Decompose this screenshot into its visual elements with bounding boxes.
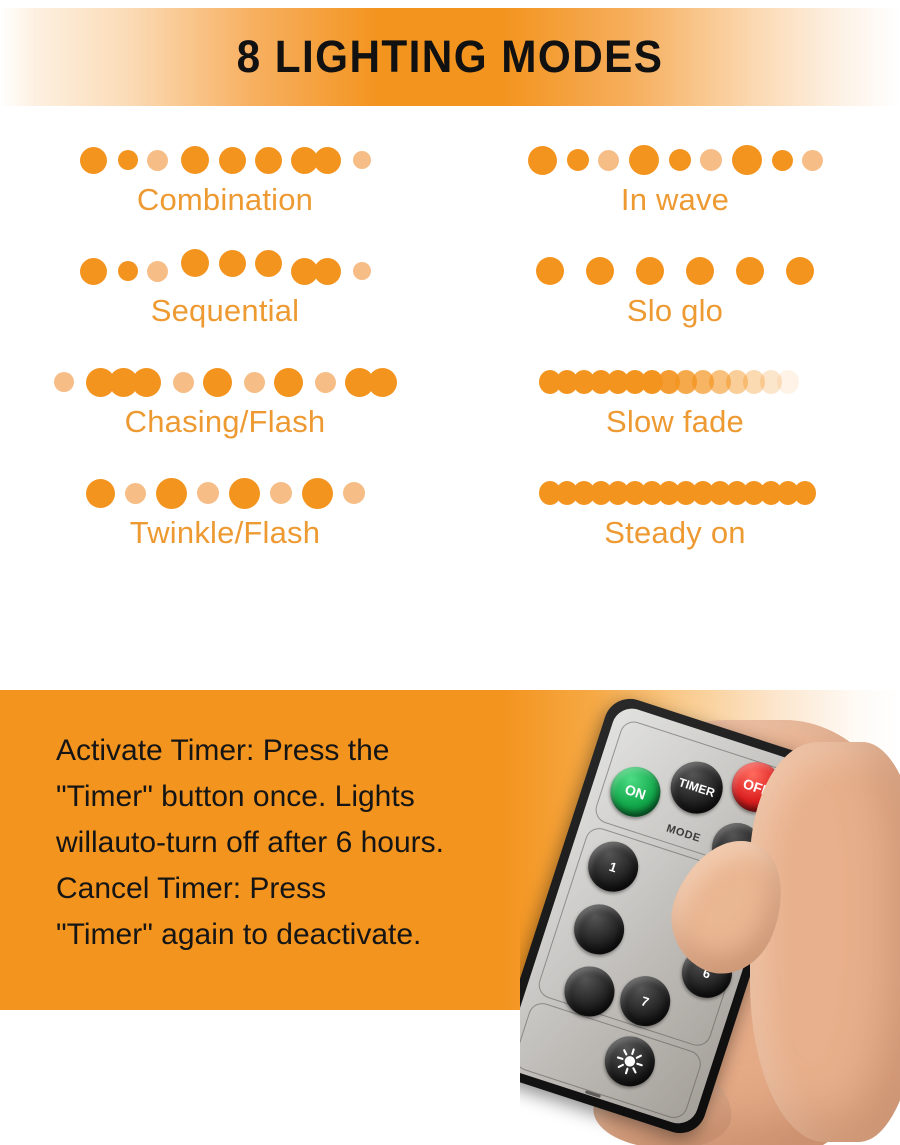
- pattern-dot: [732, 145, 762, 175]
- pattern-dot: [343, 482, 365, 504]
- pattern-dot: [772, 150, 793, 171]
- pattern-dot: [270, 482, 292, 504]
- pattern-dot: [147, 150, 168, 171]
- mode-cell: In wave: [450, 140, 900, 251]
- bottom-white-area: [0, 1010, 520, 1145]
- pattern-dot: [700, 149, 722, 171]
- pattern-dot: [353, 151, 371, 169]
- page-title: 8 LIGHTING MODES: [237, 31, 664, 83]
- pattern-dot: [314, 147, 341, 174]
- pattern-dot: [229, 478, 260, 509]
- pattern-dot: [80, 258, 107, 285]
- pattern-dot: [686, 257, 714, 285]
- mode-cell: Slow fade: [450, 362, 900, 473]
- mode-pattern-dots: [528, 140, 823, 180]
- pattern-dot: [368, 368, 397, 397]
- mode-cell: Steady on: [450, 473, 900, 584]
- mode-pattern-bar: [539, 362, 811, 402]
- pattern-dot: [156, 478, 187, 509]
- mode-pattern-bar: [539, 473, 811, 513]
- pattern-dot: [629, 145, 659, 175]
- pattern-dot: [528, 146, 557, 175]
- pattern-dot: [125, 483, 146, 504]
- pattern-dot: [255, 250, 282, 277]
- mode-cell: Twinkle/Flash: [0, 473, 450, 584]
- modes-grid: CombinationIn waveSequentialSlo gloChasi…: [0, 140, 900, 584]
- mode-label: Chasing/Flash: [125, 406, 326, 437]
- mode-pattern-dots: [54, 362, 397, 402]
- pattern-dot: [219, 147, 246, 174]
- header-banner: 8 LIGHTING MODES: [0, 8, 900, 106]
- mode-cell: Sequential: [0, 251, 450, 362]
- pattern-dot: [181, 249, 209, 277]
- mode-label: Twinkle/Flash: [130, 517, 320, 548]
- pattern-dot: [219, 250, 246, 277]
- pattern-dot: [302, 478, 333, 509]
- pattern-dot: [736, 257, 764, 285]
- pattern-dot: [536, 257, 564, 285]
- pattern-dot: [86, 479, 115, 508]
- pattern-dot: [197, 482, 219, 504]
- pattern-dot: [598, 150, 619, 171]
- pattern-bar: [539, 370, 811, 394]
- pattern-dot: [181, 146, 209, 174]
- pattern-dot: [567, 149, 589, 171]
- pattern-dot: [353, 262, 371, 280]
- pattern-dot: [132, 368, 161, 397]
- pattern-bar-segment: [794, 481, 816, 505]
- mode-label: Combination: [137, 184, 313, 215]
- pattern-dot: [586, 257, 614, 285]
- pattern-dot: [203, 368, 232, 397]
- pattern-dot: [118, 261, 138, 281]
- mode-pattern-dots: [80, 140, 371, 180]
- pattern-dot: [802, 150, 823, 171]
- lighting-modes-section: CombinationIn waveSequentialSlo gloChasi…: [0, 118, 900, 688]
- mode-cell: Chasing/Flash: [0, 362, 450, 473]
- mode-label: Slow fade: [606, 406, 744, 437]
- pattern-dot: [669, 149, 691, 171]
- pattern-dot: [786, 257, 814, 285]
- pattern-dot: [255, 147, 282, 174]
- timer-instructions-text: Activate Timer: Press the "Timer" button…: [56, 728, 526, 958]
- pattern-dot: [80, 147, 107, 174]
- pattern-bar: [539, 481, 811, 505]
- pattern-dot: [274, 368, 303, 397]
- pattern-dot: [314, 258, 341, 285]
- mode-label: In wave: [621, 184, 729, 215]
- hand-back: [750, 742, 900, 1142]
- mode-cell: Slo glo: [450, 251, 900, 362]
- mode-pattern-dots: [536, 251, 814, 291]
- mode-label: Sequential: [151, 295, 300, 326]
- pattern-dot: [173, 372, 194, 393]
- mode-pattern-dots: [86, 473, 365, 513]
- remote-control-photo: ON TIMER OFF MODE 1 2 4 6 7: [520, 690, 900, 1145]
- pattern-dot: [244, 372, 265, 393]
- pattern-dot: [147, 261, 168, 282]
- pattern-dot: [315, 372, 336, 393]
- mode-label: Steady on: [604, 517, 745, 548]
- pattern-dot: [636, 257, 664, 285]
- pattern-dot: [118, 150, 138, 170]
- mode-label: Slo glo: [627, 295, 723, 326]
- pattern-dot: [54, 372, 74, 392]
- mode-cell: Combination: [0, 140, 450, 251]
- mode-pattern-dots: [80, 251, 371, 291]
